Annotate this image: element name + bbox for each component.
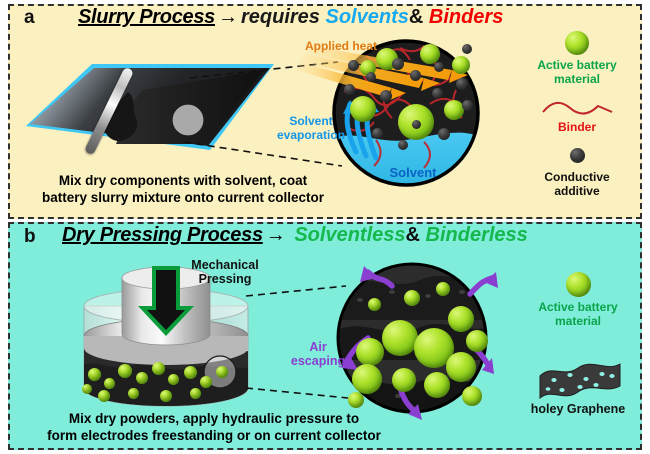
label-air-escaping: Air escaping <box>276 340 360 368</box>
conductive-additive-particle <box>438 128 450 140</box>
conductive-additive-particle <box>412 120 421 129</box>
label-air-escaping-line2: escaping <box>276 354 360 368</box>
active-material-particle <box>404 290 420 306</box>
legend-b-active-material-line2: material <box>516 314 640 328</box>
legend-a-active-material-line2: material <box>516 72 638 86</box>
active-material-particle <box>452 56 470 74</box>
panel-b-heading: Dry Pressing Process→ Solventless& Binde… <box>62 224 528 247</box>
figure-slurry-vs-dry-pressing: a Slurry Process→requires Solvents& Bind… <box>0 0 650 454</box>
active-material-particle <box>82 384 92 394</box>
panel-b-caption-line2: form electrodes freestanding or on curre… <box>14 427 414 444</box>
legend-a-active-material-line1: Active battery <box>516 58 638 72</box>
slurry-coating-illustration <box>24 58 276 170</box>
label-applied-heat: Applied heat <box>286 39 396 53</box>
panel-a-title: Slurry Process <box>78 6 215 28</box>
legend-b-green-sphere-icon <box>566 272 591 297</box>
label-solvent: Solvent <box>378 166 448 180</box>
active-material-particle <box>98 390 110 402</box>
panel-a-caption-line2: battery slurry mixture onto current coll… <box>18 189 348 206</box>
panel-b-caption-line1: Mix dry powders, apply hydraulic pressur… <box>14 410 414 427</box>
panel-b-caption: Mix dry powders, apply hydraulic pressur… <box>14 410 414 444</box>
active-material-particle <box>420 44 440 64</box>
active-material-particle <box>444 100 464 120</box>
label-air-escaping-line1: Air <box>276 340 360 354</box>
active-material-particle <box>448 306 474 332</box>
legend-a-active-material: Active battery material <box>516 58 638 86</box>
active-material-particle <box>118 364 132 378</box>
legend-a-green-sphere-icon <box>565 31 589 55</box>
panel-b-letter: b <box>24 226 36 248</box>
active-material-particle <box>184 366 197 379</box>
active-material-particle <box>190 388 201 399</box>
label-mechanical-pressing: Mechanical Pressing <box>172 258 278 286</box>
conductive-additive-particle <box>432 88 443 99</box>
legend-b-active-material: Active battery material <box>516 300 640 328</box>
label-solvent-evaporation-line2: evaporation <box>268 128 354 142</box>
coating-substrate-graphic <box>24 58 276 170</box>
conductive-additive-particle <box>462 100 473 111</box>
panel-b-keyword-solventless: Solventless <box>294 224 405 246</box>
conductive-additive-particle <box>372 128 383 139</box>
zoom-region-marker-a <box>172 104 204 136</box>
active-material-particle <box>368 298 381 311</box>
panel-a-ampersand: & <box>409 6 423 28</box>
panel-a-arrow-icon: → <box>215 6 241 28</box>
legend-a-conductive-additive: Conductive additive <box>516 170 638 198</box>
conductive-additive-particle <box>344 84 355 95</box>
panel-b-ampersand: & <box>406 224 420 246</box>
legend-b-active-material-line1: Active battery <box>516 300 640 314</box>
active-material-particle <box>352 364 382 394</box>
label-solvent-evaporation: Solvent evaporation <box>268 114 354 142</box>
legend-a-black-sphere-icon <box>570 148 585 163</box>
conductive-additive-particle <box>456 78 468 90</box>
panel-b-keyword-binderless: Binderless <box>426 224 528 246</box>
legend-b-holey-graphene-sheet-icon <box>534 358 624 404</box>
active-material-particle <box>160 390 172 402</box>
conductive-additive-particle <box>392 58 404 70</box>
panel-a-keyword-binders: Binders <box>429 6 503 28</box>
conductive-additive-particle <box>366 72 376 82</box>
active-material-particle <box>382 320 418 356</box>
legend-a-binder-wavy-line-icon <box>540 96 616 120</box>
active-material-particle <box>128 388 139 399</box>
legend-a-binder: Binder <box>516 120 638 134</box>
conductive-additive-particle <box>380 90 392 102</box>
conductive-additive-particle <box>398 140 408 150</box>
legend-a-conductive-additive-line1: Conductive <box>516 170 638 184</box>
conductive-additive-particle <box>462 44 472 54</box>
label-mechanical-pressing-line2: Pressing <box>172 272 278 286</box>
panel-b-arrow-icon: → <box>263 224 289 246</box>
label-mechanical-pressing-line1: Mechanical <box>172 258 278 272</box>
conductive-additive-particle <box>348 60 359 71</box>
conductive-additive-particle <box>434 62 444 72</box>
active-material-particle <box>88 368 101 381</box>
active-material-particle <box>216 366 228 378</box>
panel-a-letter: a <box>24 7 35 29</box>
panel-b-title: Dry Pressing Process <box>62 224 263 246</box>
active-material-particle <box>356 338 384 366</box>
active-material-particle <box>466 330 488 352</box>
active-material-particle <box>136 372 148 384</box>
conductive-additive-particle <box>410 70 421 81</box>
active-material-particle <box>446 352 476 382</box>
active-material-particle <box>152 362 165 375</box>
active-material-particle <box>348 392 364 408</box>
active-material-particle <box>200 376 212 388</box>
active-material-particle <box>104 378 115 389</box>
active-material-particle <box>424 372 450 398</box>
label-solvent-evaporation-line1: Solvent <box>268 114 354 128</box>
active-material-particle <box>392 368 416 392</box>
panel-a-caption: Mix dry components with solvent, coat ba… <box>18 172 348 206</box>
active-material-particle <box>168 374 179 385</box>
active-material-particle <box>436 282 450 296</box>
legend-a-conductive-additive-line2: additive <box>516 184 638 198</box>
legend-b-holey-graphene: holey Graphene <box>510 402 646 416</box>
panel-a-caption-line1: Mix dry components with solvent, coat <box>18 172 348 189</box>
panel-a-heading: Slurry Process→requires Solvents& Binder… <box>78 6 503 29</box>
active-material-particle <box>462 386 482 406</box>
panel-a-requires-word: requires <box>241 6 320 28</box>
panel-a-keyword-solvents: Solvents <box>326 6 409 28</box>
